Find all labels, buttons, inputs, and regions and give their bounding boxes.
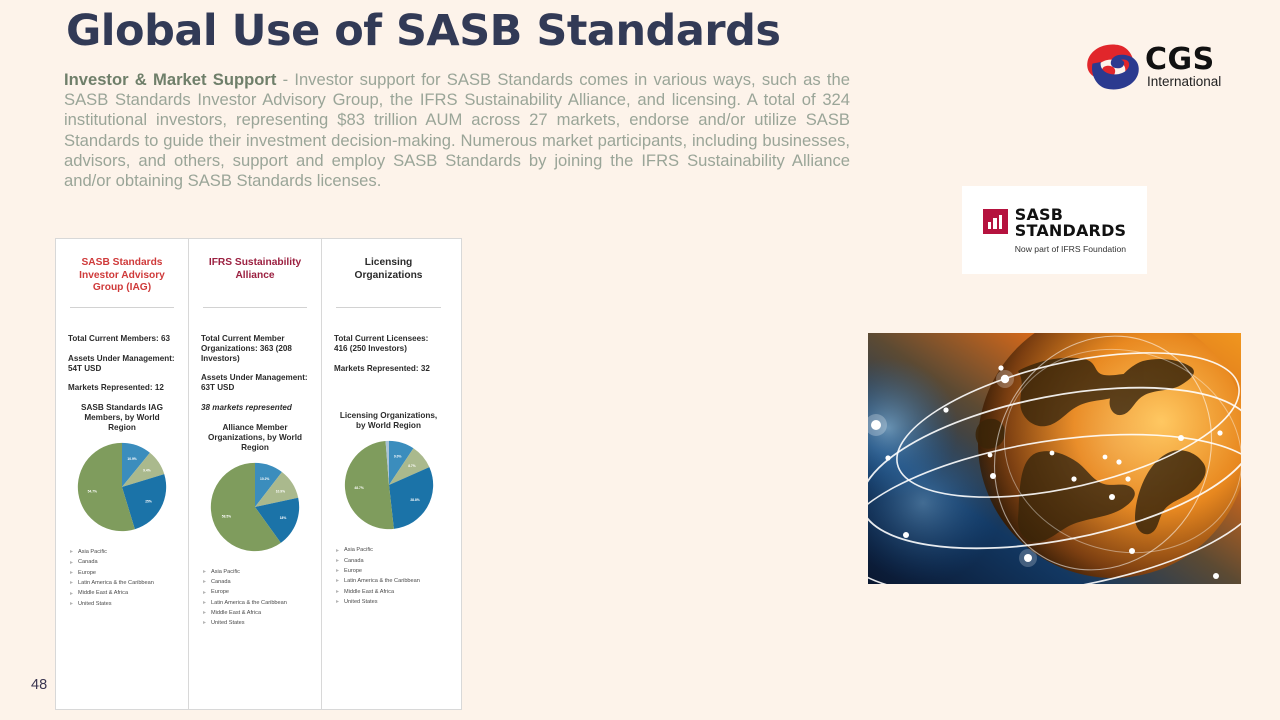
- sasb-wordmark-block: SASB STANDARDS Now part of IFRS Foundati…: [1015, 207, 1127, 254]
- bullet-icon: ▸: [203, 611, 207, 615]
- sasb-wordmark-line2: STANDARDS: [1015, 223, 1127, 240]
- legend-label: Latin America & the Caribbean: [211, 598, 287, 608]
- legend-item: ▸Latin America & the Caribbean: [203, 598, 313, 608]
- slide-canvas: Global Use of SASB Standards Investor & …: [0, 0, 1280, 720]
- legend-item: ▸United States: [70, 599, 180, 609]
- bullet-icon: ▸: [70, 592, 74, 596]
- legend-item: ▸Canada: [203, 577, 313, 587]
- legend-label: United States: [78, 599, 112, 609]
- bullet-icon: ▸: [336, 569, 340, 573]
- pie-chart-svg: 10.9% 9.4% 25% 54.7%: [76, 441, 168, 533]
- legend-label: Asia Pacific: [344, 545, 373, 555]
- cgs-wordmark: CGS: [1145, 42, 1215, 77]
- legend-label: Asia Pacific: [78, 547, 107, 557]
- pie-chart-title: Licensing Organizations, by World Region: [330, 411, 447, 431]
- card-stats: Total Current Members: 63 Assets Under M…: [64, 334, 180, 393]
- pie-slice-label: 18%: [280, 516, 287, 520]
- card-stats: Total Current Member Organizations: 363 …: [197, 334, 313, 413]
- pie-chart-2: 10.2% 10.9% 18% 58.5%: [197, 461, 313, 553]
- legend-label: Europe: [211, 587, 229, 597]
- legend-label: Middle East & Africa: [211, 608, 261, 618]
- pie-chart-1: 10.9% 9.4% 25% 54.7%: [64, 441, 180, 533]
- globe-illustration: [868, 333, 1241, 584]
- cgs-international-logo: CGS International: [1085, 40, 1240, 98]
- pie-slice-label: 58.5%: [222, 514, 231, 518]
- legend-item: ▸United States: [203, 618, 313, 628]
- card-ifrs-alliance: IFRS Sustainability Alliance Total Curre…: [189, 239, 322, 709]
- pie-slice-label: 10.2%: [260, 477, 269, 481]
- pie-slices: [344, 441, 432, 529]
- legend-label: Canada: [211, 577, 231, 587]
- legend-label: United States: [344, 597, 378, 607]
- legend-item: ▸Canada: [336, 556, 447, 566]
- bullet-icon: ▸: [336, 579, 340, 583]
- pie-slices: [78, 443, 166, 531]
- pie-chart-title: Alliance Member Organizations, by World …: [197, 423, 313, 453]
- sasb-logo: SASB STANDARDS Now part of IFRS Foundati…: [983, 207, 1127, 254]
- pie-slice-label: 54.7%: [88, 490, 97, 494]
- stat-line: Total Current Member Organizations: 363 …: [201, 334, 309, 363]
- pie-slice-label: 8.7%: [408, 464, 416, 468]
- card-stats: Total Current Licensees: 416 (250 Invest…: [330, 334, 447, 373]
- bullet-icon: ▸: [336, 600, 340, 604]
- pie-chart-svg: 10.2% 10.9% 18% 58.5%: [209, 461, 301, 553]
- paragraph-lead: Investor & Market Support: [64, 70, 276, 89]
- legend-item: ▸Asia Pacific: [203, 567, 313, 577]
- legend-item: ▸Latin America & the Caribbean: [70, 578, 180, 588]
- body-paragraph: Investor & Market Support - Investor sup…: [64, 70, 850, 191]
- card-licensing-organizations: Licensing Organizations Total Current Li…: [322, 239, 455, 709]
- bullet-icon: ▸: [203, 601, 207, 605]
- bullet-icon: ▸: [70, 581, 74, 585]
- card-heading: Licensing Organizations: [330, 249, 447, 299]
- bullet-icon: ▸: [70, 561, 74, 565]
- stat-line: Assets Under Management: 54T USD: [68, 354, 176, 374]
- bullet-icon: ▸: [203, 621, 207, 625]
- legend-label: Middle East & Africa: [344, 587, 394, 597]
- stat-line: Total Current Licensees: 416 (250 Invest…: [334, 334, 443, 354]
- legend-item: ▸Europe: [203, 587, 313, 597]
- pie-slice-label: 10.9%: [127, 457, 136, 461]
- legend-item: ▸Middle East & Africa: [203, 608, 313, 618]
- pie-legend: ▸Asia Pacific ▸Canada ▸Europe ▸Latin Ame…: [330, 545, 447, 607]
- bullet-icon: ▸: [70, 571, 74, 575]
- sasb-standards-logo-card: SASB STANDARDS Now part of IFRS Foundati…: [962, 186, 1147, 274]
- divider: [203, 307, 307, 308]
- legend-item: ▸Europe: [336, 566, 447, 576]
- stat-line: Markets Represented: 12: [68, 383, 176, 393]
- pie-slice: [344, 441, 393, 529]
- legend-item: ▸Europe: [70, 568, 180, 578]
- bullet-icon: ▸: [70, 550, 74, 554]
- stat-line: Assets Under Management: 63T USD: [201, 373, 309, 393]
- pie-slices: [211, 463, 299, 551]
- pie-slice-label: 25%: [145, 500, 152, 504]
- legend-item: ▸Middle East & Africa: [70, 588, 180, 598]
- divider: [336, 307, 441, 308]
- bullet-icon: ▸: [336, 590, 340, 594]
- card-heading: IFRS Sustainability Alliance: [197, 249, 313, 299]
- legend-label: Middle East & Africa: [78, 588, 128, 598]
- pie-chart-svg: 9.0% 8.7% 28.8% 48.7%: [343, 439, 435, 531]
- pie-slice-label: 9.4%: [143, 469, 151, 473]
- bullet-icon: ▸: [203, 580, 207, 584]
- legend-label: Canada: [78, 557, 98, 567]
- divider: [70, 307, 174, 308]
- bullet-icon: ▸: [70, 602, 74, 606]
- legend-label: United States: [211, 618, 245, 628]
- legend-label: Asia Pacific: [211, 567, 240, 577]
- statistics-table: SASB Standards Investor Advisory Group (…: [55, 238, 462, 710]
- stat-line: Total Current Members: 63: [68, 334, 176, 344]
- card-heading: SASB Standards Investor Advisory Group (…: [64, 249, 180, 299]
- sasb-tagline: Now part of IFRS Foundation: [1015, 244, 1127, 254]
- cgs-subtitle: International: [1147, 74, 1221, 89]
- legend-item: ▸Middle East & Africa: [336, 587, 447, 597]
- stat-line: 38 markets represented: [201, 403, 309, 413]
- pie-slice-label: 28.8%: [410, 499, 419, 503]
- slide-number: 48: [31, 677, 47, 693]
- pie-chart-title: SASB Standards IAG Members, by World Reg…: [64, 403, 180, 433]
- bar-chart-icon: [983, 209, 1008, 234]
- legend-label: Latin America & the Caribbean: [78, 578, 154, 588]
- legend-label: Europe: [344, 566, 362, 576]
- globe-network-image: [868, 333, 1241, 584]
- bullet-icon: ▸: [336, 559, 340, 563]
- legend-item: ▸Asia Pacific: [336, 545, 447, 555]
- pie-chart-3: 9.0% 8.7% 28.8% 48.7%: [330, 439, 447, 531]
- bullet-icon: ▸: [203, 591, 207, 595]
- pie-slice-label: 10.9%: [276, 489, 285, 493]
- stat-line: Markets Represented: 32: [334, 364, 443, 374]
- legend-item: ▸Canada: [70, 557, 180, 567]
- pie-slice-label: 9.0%: [393, 455, 401, 459]
- bullet-icon: ▸: [203, 570, 207, 574]
- pie-legend: ▸Asia Pacific ▸Canada ▸Europe ▸Latin Ame…: [197, 567, 313, 629]
- legend-item: ▸Asia Pacific: [70, 547, 180, 557]
- card-sasb-iag: SASB Standards Investor Advisory Group (…: [56, 239, 189, 709]
- cgs-swirl-icon: [1085, 42, 1141, 92]
- bullet-icon: ▸: [336, 549, 340, 553]
- legend-label: Latin America & the Caribbean: [344, 576, 420, 586]
- legend-item: ▸United States: [336, 597, 447, 607]
- page-title: Global Use of SASB Standards: [66, 6, 780, 56]
- pie-legend: ▸Asia Pacific ▸Canada ▸Europe ▸Latin Ame…: [64, 547, 180, 609]
- legend-label: Canada: [344, 556, 364, 566]
- pie-slice-label: 48.7%: [354, 487, 363, 491]
- legend-label: Europe: [78, 568, 96, 578]
- legend-item: ▸Latin America & the Caribbean: [336, 576, 447, 586]
